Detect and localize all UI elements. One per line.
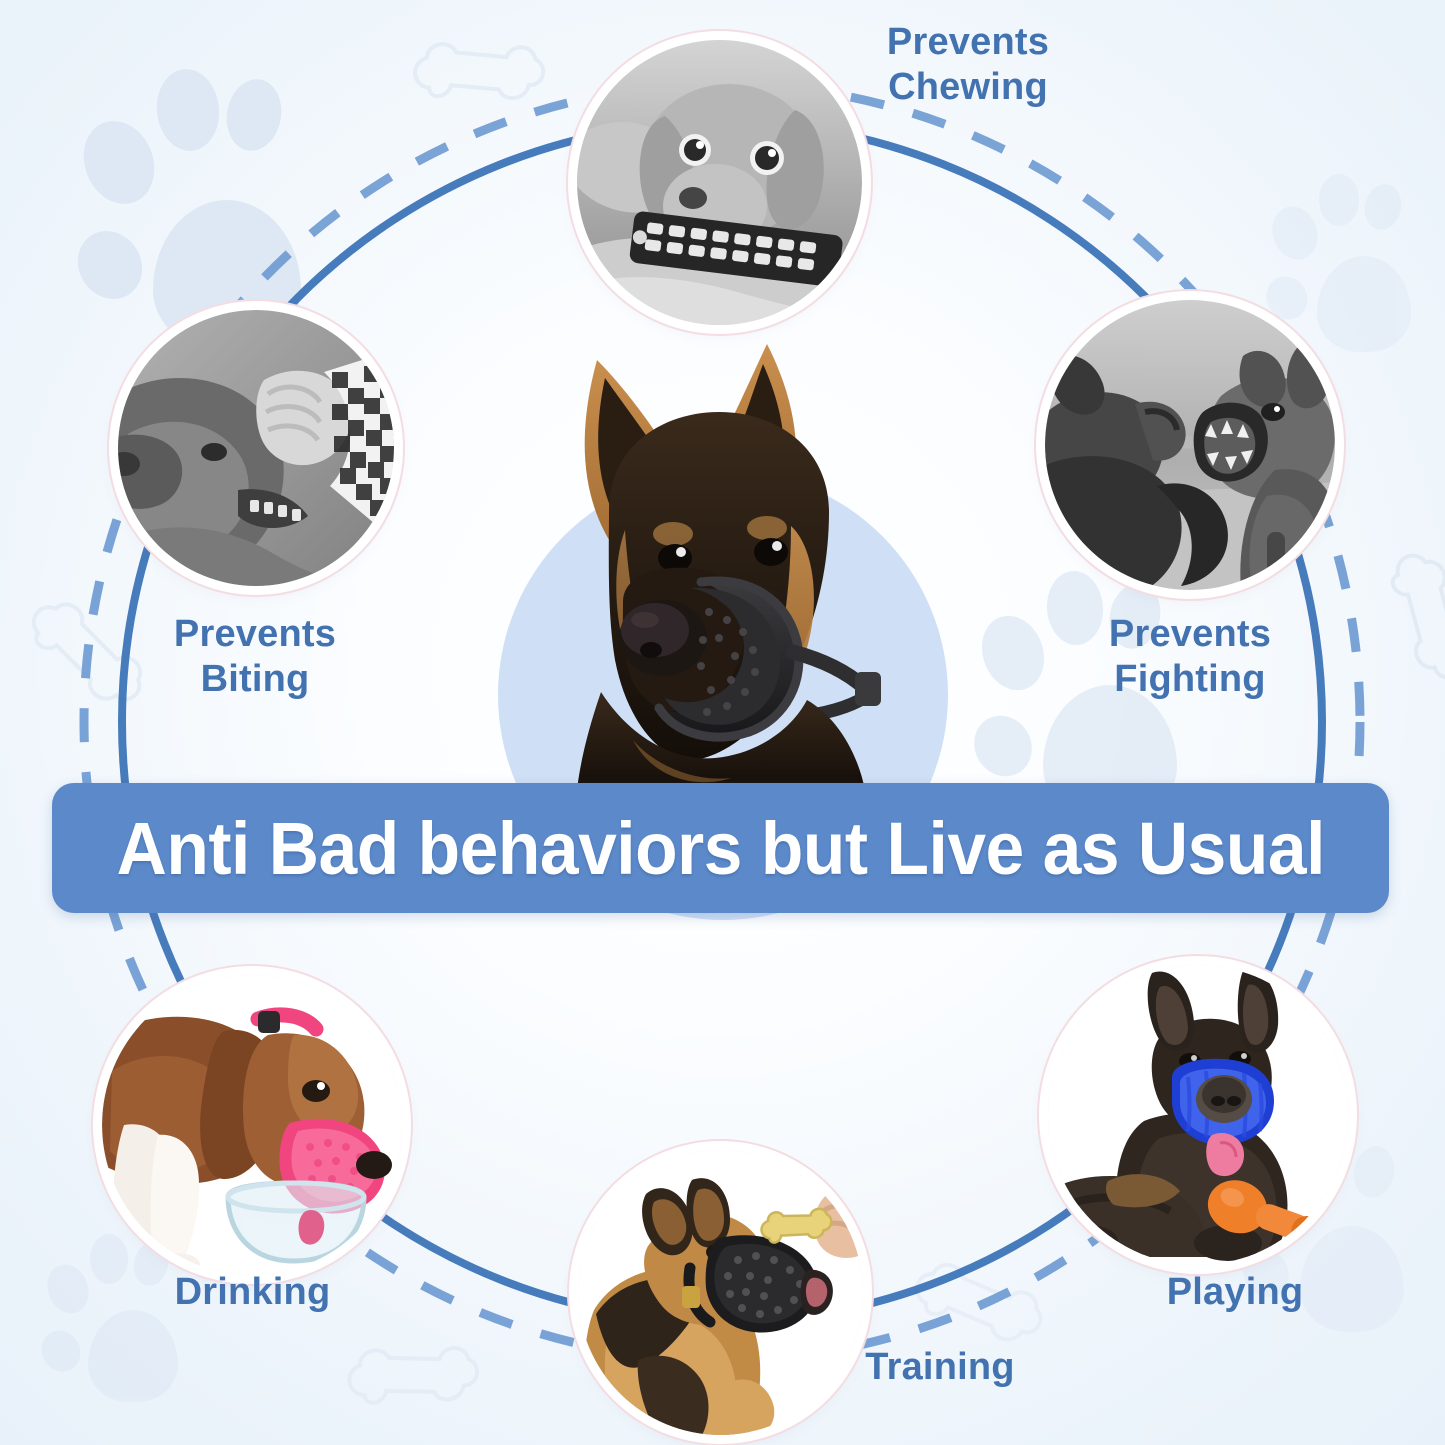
feature-photo-drinking[interactable]	[102, 975, 402, 1275]
feature-photo-playing[interactable]	[1048, 965, 1348, 1265]
infographic-canvas: Prevents Chewing	[0, 0, 1445, 1445]
feature-photo-prevents-fighting[interactable]	[1045, 300, 1335, 590]
feature-label-prevents-fighting: Prevents Fighting	[1040, 612, 1340, 702]
feature-photo-training[interactable]	[578, 1150, 863, 1435]
feature-label-prevents-biting: Prevents Biting	[110, 612, 400, 702]
photo-inner	[1048, 965, 1348, 1265]
photo-inner	[1045, 300, 1335, 590]
feature-photo-prevents-biting[interactable]	[118, 310, 394, 586]
photo-inner	[102, 975, 402, 1275]
headline-banner: Anti Bad behaviors but Live as Usual	[52, 783, 1389, 913]
feature-label-drinking: Drinking	[110, 1270, 395, 1315]
headline-text: Anti Bad behaviors but Live as Usual	[116, 806, 1324, 891]
feature-label-training: Training	[810, 1345, 1070, 1390]
feature-label-playing: Playing	[1105, 1270, 1365, 1315]
photo-inner	[118, 310, 394, 586]
hero-dog-image	[505, 320, 935, 790]
feature-label-prevents-chewing: Prevents Chewing	[818, 20, 1118, 110]
photo-inner	[578, 1150, 863, 1435]
